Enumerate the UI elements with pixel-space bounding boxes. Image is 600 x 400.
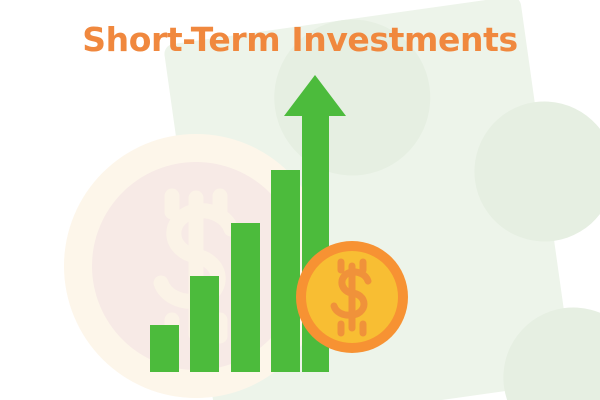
bar-4 [271,170,300,372]
page-title: Short-Term Investments [0,20,600,59]
bar-1 [150,325,179,372]
illustration-canvas: Short-Term Investments [0,0,600,400]
chart-artwork-layer [0,0,600,400]
dollar-coin-icon [296,241,408,353]
bar-3 [231,223,260,372]
bar-2 [190,276,219,372]
bar-group [150,170,300,372]
